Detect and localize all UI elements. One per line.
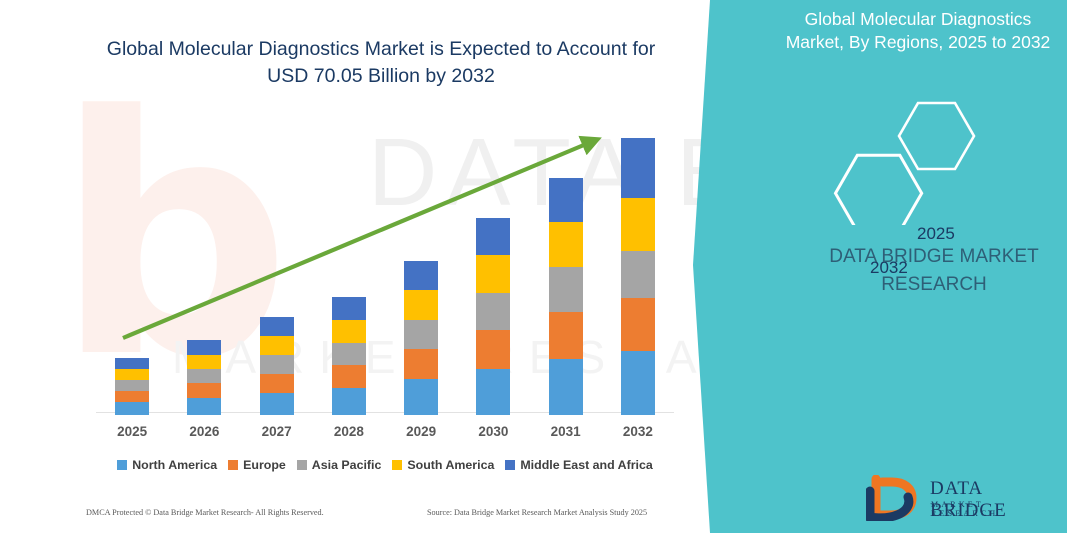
x-axis-label-2026: 2026 bbox=[174, 424, 234, 439]
bar-segment bbox=[549, 312, 583, 359]
bar-segment bbox=[187, 369, 221, 383]
logo-name-bottom: MARKET RESEARCH bbox=[931, 500, 1056, 518]
bar-segment bbox=[404, 349, 438, 379]
bar-segment bbox=[476, 369, 510, 415]
legend-label: Asia Pacific bbox=[312, 458, 382, 472]
bar-segment bbox=[621, 298, 655, 351]
legend-item[interactable]: Middle East and Africa bbox=[505, 458, 652, 472]
bar-segment bbox=[549, 222, 583, 267]
infographic-root: b DATA BRIDGE MARKET RESEARCH Global Mol… bbox=[0, 0, 1067, 533]
bar-segment bbox=[404, 290, 438, 320]
bar-column-2029 bbox=[404, 261, 438, 415]
bar-segment bbox=[621, 138, 655, 198]
legend-label: Europe bbox=[243, 458, 286, 472]
bar-segment bbox=[621, 351, 655, 415]
hexagon-label-2025: 2025 bbox=[917, 224, 955, 244]
hexagon-outlines bbox=[820, 95, 1020, 225]
bar-column-2032 bbox=[621, 138, 655, 415]
x-axis-label-2028: 2028 bbox=[319, 424, 379, 439]
legend-item[interactable]: Asia Pacific bbox=[297, 458, 382, 472]
bar-segment bbox=[404, 261, 438, 290]
footer-copyright: DMCA Protected © Data Bridge Market Rese… bbox=[86, 508, 324, 517]
footer-source: Source: Data Bridge Market Research Mark… bbox=[427, 508, 647, 517]
bar-segment bbox=[332, 388, 366, 415]
bar-segment bbox=[187, 340, 221, 355]
bar-column-2025 bbox=[115, 358, 149, 415]
bar-segment bbox=[549, 178, 583, 222]
company-logo: DATA BRIDGE MARKET RESEARCH bbox=[866, 475, 1056, 523]
bar-segment bbox=[115, 402, 149, 415]
bar-column-2031 bbox=[549, 178, 583, 415]
bar-segment bbox=[260, 374, 294, 393]
logo-b-mark-icon bbox=[866, 475, 924, 521]
bar-segment bbox=[260, 355, 294, 374]
legend-swatch-icon bbox=[392, 460, 402, 470]
legend-label: Middle East and Africa bbox=[520, 458, 652, 472]
bar-segment bbox=[549, 267, 583, 312]
bar-segment bbox=[476, 218, 510, 255]
x-axis-label-2027: 2027 bbox=[247, 424, 307, 439]
bar-column-2030 bbox=[476, 218, 510, 415]
bar-segment bbox=[404, 320, 438, 349]
panel-brand-name: DATA BRIDGE MARKET RESEARCH bbox=[800, 243, 1067, 299]
bar-segment bbox=[332, 320, 366, 343]
panel-heading: Global Molecular Diagnostics Market, By … bbox=[778, 8, 1058, 54]
bar-segment bbox=[549, 359, 583, 415]
bar-segment bbox=[115, 358, 149, 369]
bar-segment bbox=[621, 198, 655, 251]
bar-segment bbox=[332, 297, 366, 320]
bar-segment bbox=[404, 379, 438, 415]
legend-swatch-icon bbox=[505, 460, 515, 470]
bar-segment bbox=[115, 369, 149, 380]
bar-segment bbox=[187, 398, 221, 415]
growth-trend-arrow bbox=[96, 120, 674, 415]
panel-brand-line2: RESEARCH bbox=[881, 274, 987, 295]
hexagon-badges: 2032 2025 bbox=[820, 95, 1020, 225]
x-axis-labels: 20252026202720282029203020312032 bbox=[96, 424, 674, 446]
bar-segment bbox=[115, 380, 149, 391]
bar-segment bbox=[476, 330, 510, 369]
legend-swatch-icon bbox=[228, 460, 238, 470]
bar-segment bbox=[187, 355, 221, 369]
hexagon-2025-shape bbox=[899, 103, 974, 169]
x-axis-label-2032: 2032 bbox=[608, 424, 668, 439]
x-axis-label-2031: 2031 bbox=[536, 424, 596, 439]
stacked-bar-plot bbox=[96, 120, 674, 415]
legend-label: South America bbox=[407, 458, 494, 472]
bar-segment bbox=[260, 317, 294, 336]
bar-segment bbox=[476, 255, 510, 293]
chart-title: Global Molecular Diagnostics Market is E… bbox=[86, 36, 676, 90]
bar-segment bbox=[332, 343, 366, 365]
bar-segment bbox=[260, 393, 294, 415]
bar-segment bbox=[476, 293, 510, 330]
legend-label: North America bbox=[132, 458, 217, 472]
bar-column-2026 bbox=[187, 340, 221, 415]
bar-segment bbox=[332, 365, 366, 388]
bar-segment bbox=[115, 391, 149, 402]
x-axis-label-2025: 2025 bbox=[102, 424, 162, 439]
bar-segment bbox=[260, 336, 294, 355]
hexagon-2032-shape bbox=[835, 155, 921, 225]
bar-segment bbox=[187, 383, 221, 398]
bar-column-2027 bbox=[260, 317, 294, 415]
x-axis-label-2030: 2030 bbox=[463, 424, 523, 439]
legend-item[interactable]: Europe bbox=[228, 458, 286, 472]
bar-segment bbox=[621, 251, 655, 298]
legend-swatch-icon bbox=[297, 460, 307, 470]
legend-swatch-icon bbox=[117, 460, 127, 470]
chart-legend: North AmericaEuropeAsia PacificSouth Ame… bbox=[96, 455, 674, 475]
legend-item[interactable]: South America bbox=[392, 458, 494, 472]
legend-item[interactable]: North America bbox=[117, 458, 217, 472]
panel-brand-line1: DATA BRIDGE MARKET bbox=[829, 246, 1038, 267]
bar-column-2028 bbox=[332, 297, 366, 415]
x-axis-label-2029: 2029 bbox=[391, 424, 451, 439]
